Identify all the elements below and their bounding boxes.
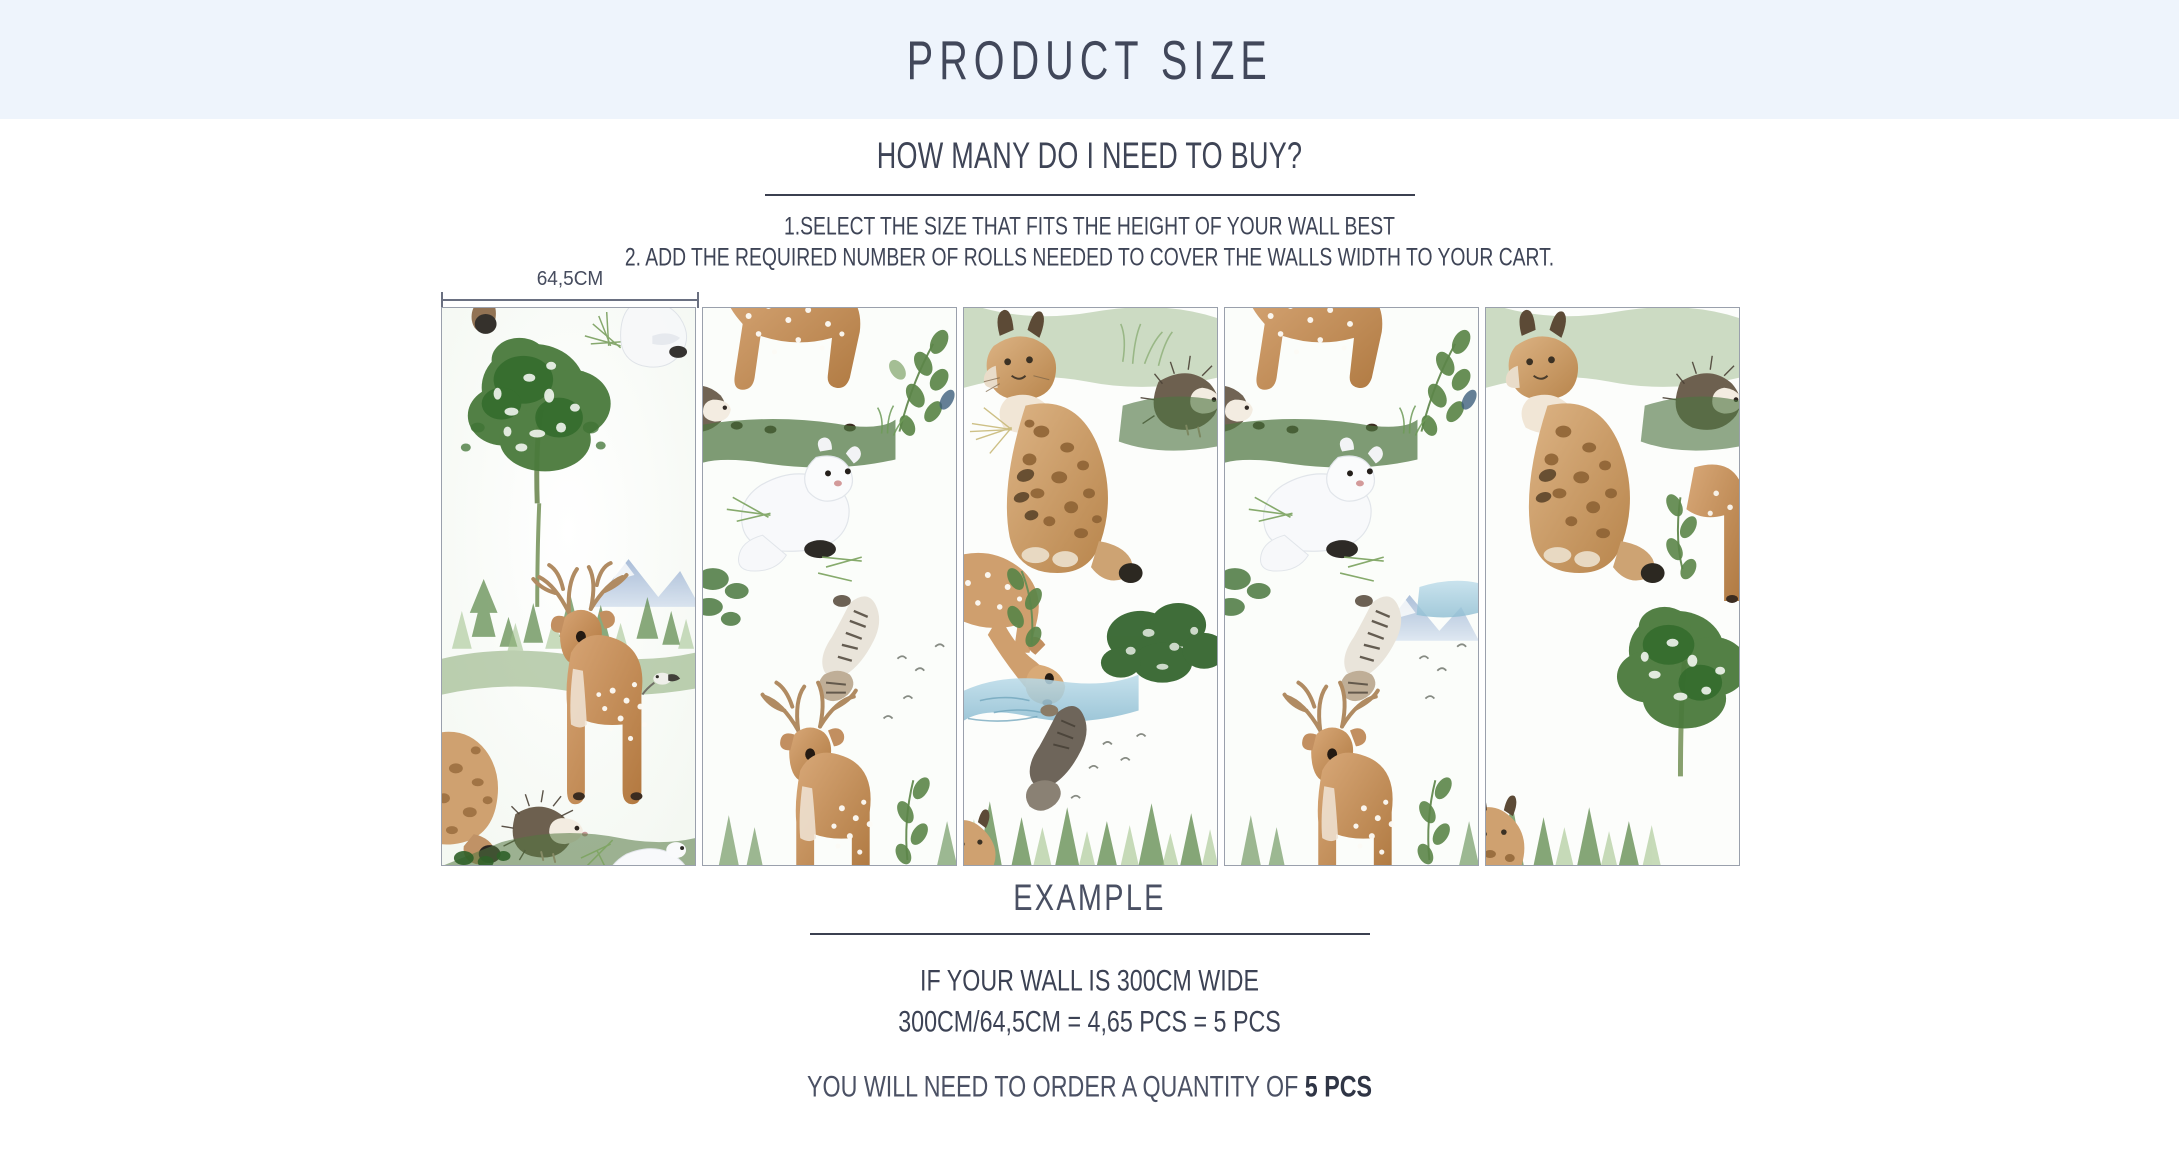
woodland-pattern-artwork-4 [1225,308,1478,865]
final-prefix: YOU WILL NEED TO ORDER A QUANTITY OF [807,1070,1305,1103]
wallpaper-panel-strip [441,307,1735,866]
final-quantity: 5 PCS [1305,1070,1372,1103]
intro-section: HOW MANY DO I NEED TO BUY? 1.SELECT THE … [0,119,2179,273]
example-divider [810,933,1370,935]
wallpaper-panel-3[interactable] [963,307,1218,866]
instruction-list: 1.SELECT THE SIZE THAT FITS THE HEIGHT O… [0,211,2179,273]
dimension-tick-right [697,292,699,308]
page-header: PRODUCT SIZE [0,0,2179,119]
width-dimension-indicator: 64,5CM [441,268,699,310]
wallpaper-panel-2[interactable] [702,307,957,866]
woodland-pattern-artwork-2 [703,308,956,865]
example-calculation: IF YOUR WALL IS 300CM WIDE 300CM/64,5CM … [0,961,2179,1043]
instruction-step-2: 2. ADD THE REQUIRED NUMBER OF ROLLS NEED… [87,239,2092,276]
example-final-statement: YOU WILL NEED TO ORDER A QUANTITY OF 5 P… [76,1070,2102,1104]
wallpaper-panel-5[interactable] [1485,307,1740,866]
dimension-line [441,299,699,301]
heading-divider [765,194,1415,196]
page-title: PRODUCT SIZE [906,28,1272,92]
woodland-pattern-artwork-1 [442,308,695,865]
wallpaper-panel-4[interactable] [1224,307,1479,866]
ermine-top [621,308,687,367]
woodland-pattern-artwork-5 [1486,308,1739,865]
example-section: EXAMPLE IF YOUR WALL IS 300CM WIDE 300CM… [0,880,2179,1102]
product-size-page: PRODUCT SIZE HOW MANY DO I NEED TO BUY? … [0,0,2179,1165]
woodland-pattern-artwork-3 [964,308,1217,865]
example-line-2: 300CM/64,5CM = 4,65 PCS = 5 PCS [76,998,2102,1046]
intro-heading: HOW MANY DO I NEED TO BUY? [109,136,2070,177]
pond-right [1416,581,1478,618]
wallpaper-panel-1[interactable] [441,307,696,866]
dimension-tick-left [441,292,443,308]
width-dimension-label: 64,5CM [447,268,692,291]
example-title: EXAMPLE [76,876,2102,919]
